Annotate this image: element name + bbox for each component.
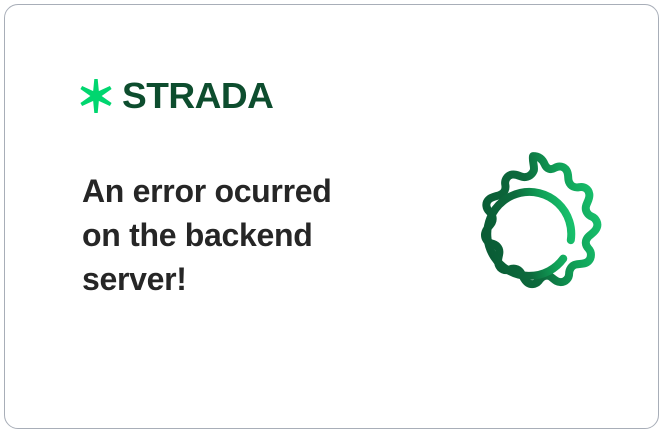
strada-logo: STRADA <box>79 75 269 117</box>
strada-asterisk-icon <box>79 79 113 113</box>
error-screen: STRADA An error ocurred on the backend s… <box>0 0 666 436</box>
gear-spinner-icon <box>449 138 617 312</box>
error-card: STRADA An error ocurred on the backend s… <box>4 4 659 429</box>
gear-illustration <box>449 138 617 312</box>
error-headline: An error ocurred on the backend server! <box>82 169 382 301</box>
strada-wordmark: STRADA <box>122 78 273 114</box>
